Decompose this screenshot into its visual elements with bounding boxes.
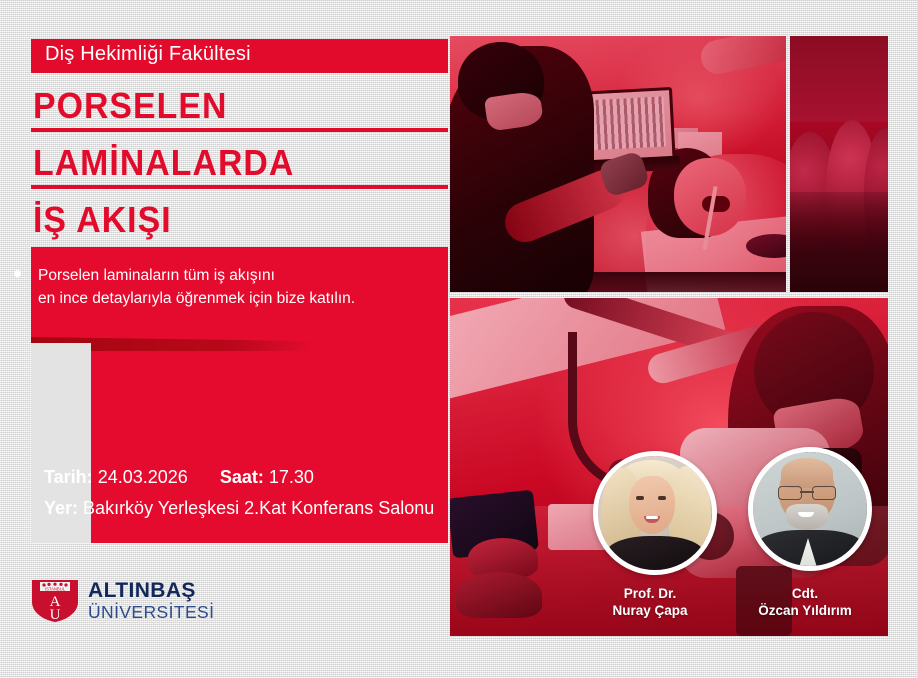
description-text: Porselen laminaların tüm iş akışını en i…: [38, 264, 438, 310]
shield-icon: İSTANBUL A U: [30, 578, 80, 624]
headline-line-1: PORSELEN: [33, 85, 227, 127]
speaker-2-name: Cdt. Özcan Yıldırım: [730, 585, 880, 619]
avatar-speaker-2: [748, 447, 872, 571]
headline-line-3: İŞ AKIŞI: [33, 199, 172, 241]
speaker-1-fullname: Nuray Çapa: [575, 602, 725, 619]
university-logo: İSTANBUL A U ALTINBAŞ ÜNİVERSİTESİ: [30, 578, 230, 624]
date-time-row: Tarih: 24.03.2026 Saat: 17.30: [44, 462, 434, 493]
faculty-label: Diş Hekimliği Fakültesi: [45, 43, 251, 66]
logo-wordmark: ALTINBAŞ ÜNİVERSİTESİ: [88, 580, 214, 622]
headline-line-2: LAMİNALARDA: [33, 142, 294, 184]
svg-text:İSTANBUL: İSTANBUL: [45, 587, 66, 592]
time-value: 17.30: [269, 467, 314, 487]
logo-name-line-1: ALTINBAŞ: [88, 580, 214, 602]
speaker-1-name: Prof. Dr. Nuray Çapa: [575, 585, 725, 619]
date-value: 24.03.2026: [98, 467, 188, 487]
faculty-banner: Diş Hekimliği Fakültesi: [31, 39, 448, 73]
time-label: Saat:: [220, 467, 264, 487]
bullet-dot-icon: [14, 270, 21, 277]
speaker-1-title: Prof. Dr.: [575, 585, 725, 602]
photo-dentist-scanning-patient: [450, 36, 786, 292]
place-label: Yer:: [44, 498, 78, 518]
event-details: Tarih: 24.03.2026 Saat: 17.30 Yer: Bakır…: [44, 462, 434, 524]
speaker-2-fullname: Özcan Yıldırım: [730, 602, 880, 619]
description-line-2: en ince detaylarıyla öğrenmek için bize …: [38, 287, 438, 310]
place-value: Bakırköy Yerleşkesi 2.Kat Konferans Salo…: [83, 498, 434, 518]
logo-name-line-2: ÜNİVERSİTESİ: [88, 602, 214, 622]
headline-divider-1: [31, 128, 448, 132]
photo-teeth-closeup: [790, 36, 888, 292]
headline-divider-2: [31, 185, 448, 189]
description-line-1: Porselen laminaların tüm iş akışını: [38, 264, 438, 287]
event-poster: Diş Hekimliği Fakültesi PORSELEN LAMİNAL…: [0, 0, 918, 678]
glasses-icon: [778, 486, 836, 498]
date-label: Tarih:: [44, 467, 93, 487]
decorative-wedge: [31, 337, 448, 351]
place-row: Yer: Bakırköy Yerleşkesi 2.Kat Konferans…: [44, 493, 434, 524]
avatar-speaker-1: [593, 451, 717, 575]
speaker-2-title: Cdt.: [730, 585, 880, 602]
svg-text:U: U: [50, 607, 61, 623]
